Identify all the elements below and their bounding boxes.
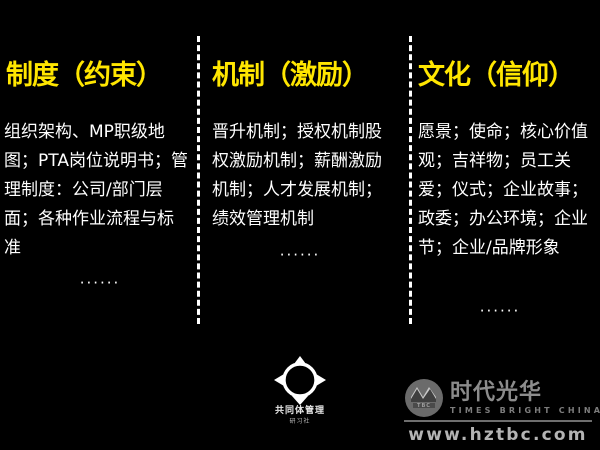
- watermark-top-row: TBC 时代光华 TIMES BRIGHT CHINA: [404, 378, 592, 418]
- column-ellipsis-mechanism: ······: [200, 246, 400, 264]
- center-logo: 共同体管理 研习社: [252, 356, 348, 436]
- center-logo-subtitle: 研习社: [252, 418, 348, 426]
- column-divider-left: [197, 36, 200, 324]
- column-institution: 制度（约束） 组织架构、MP职级地图；PTA岗位说明书；管理制度：公司/部门层面…: [0, 0, 200, 340]
- column-ellipsis-culture: ······: [400, 302, 600, 320]
- watermark-brand-en: TIMES BRIGHT CHINA: [450, 405, 600, 416]
- column-divider-right: [409, 36, 412, 324]
- watermark-brand-cn: 时代光华: [450, 381, 600, 405]
- watermark: TBC 时代光华 TIMES BRIGHT CHINA www.hztbc.co…: [404, 378, 592, 444]
- center-logo-title: 共同体管理: [252, 406, 348, 417]
- watermark-divider-rule: [404, 420, 592, 422]
- svg-text:TBC: TBC: [417, 403, 431, 409]
- column-heading-culture: 文化（信仰）: [418, 62, 574, 89]
- column-heading-institution: 制度（约束）: [6, 62, 162, 89]
- tbc-circle-logo-icon: TBC: [404, 378, 444, 418]
- watermark-brand-block: 时代光华 TIMES BRIGHT CHINA: [450, 381, 600, 416]
- column-mechanism: 机制（激励） 晋升机制；授权机制股权激励机制；薪酬激励机制；人才发展机制；绩效管…: [200, 0, 400, 340]
- watermark-url: www.hztbc.com: [404, 426, 592, 445]
- column-body-mechanism: 晋升机制；授权机制股权激励机制；薪酬激励机制；人才发展机制；绩效管理机制: [212, 118, 394, 234]
- column-body-institution: 组织架构、MP职级地图；PTA岗位说明书；管理制度：公司/部门层面；各种作业流程…: [4, 118, 190, 263]
- slide-canvas: 制度（约束） 组织架构、MP职级地图；PTA岗位说明书；管理制度：公司/部门层面…: [0, 0, 600, 450]
- community-ring-icon: [252, 356, 348, 408]
- column-culture: 文化（信仰） 愿景；使命；核心价值观；吉祥物；员工关爱；仪式；企业故事；政委；办…: [400, 0, 600, 340]
- column-body-culture: 愿景；使命；核心价值观；吉祥物；员工关爱；仪式；企业故事；政委；办公环境；企业节…: [418, 118, 598, 263]
- column-heading-mechanism: 机制（激励）: [212, 62, 368, 89]
- three-column-layout: 制度（约束） 组织架构、MP职级地图；PTA岗位说明书；管理制度：公司/部门层面…: [0, 0, 600, 340]
- column-ellipsis-institution: ······: [0, 274, 200, 292]
